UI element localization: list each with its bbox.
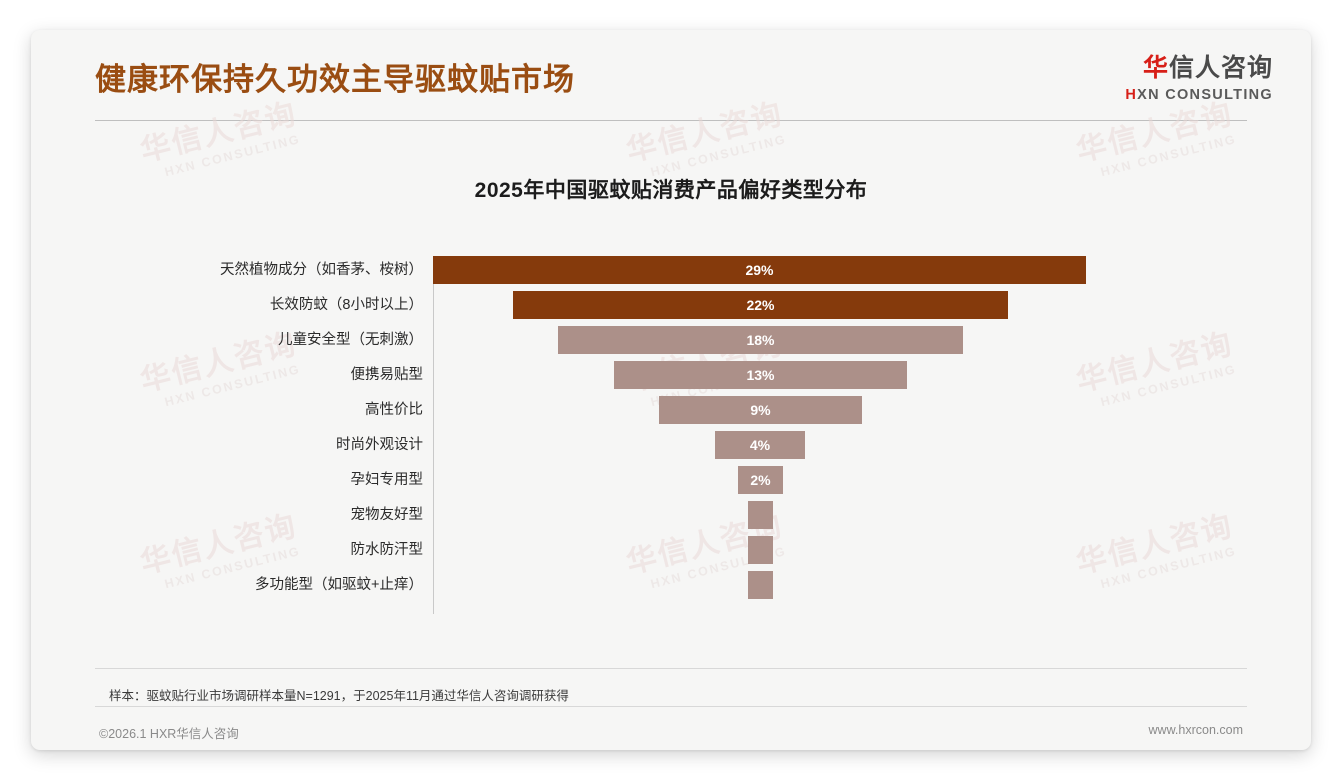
logo-hua-glyph: 华 [1143, 54, 1169, 82]
bar-value-label: 18% [558, 326, 963, 354]
chart-row: 儿童安全型（无刺激）18% [31, 326, 1311, 354]
chart-bar: 13% [614, 361, 907, 389]
category-label: 天然植物成分（如香茅、桉树） [220, 256, 423, 284]
category-label: 孕妇专用型 [351, 466, 424, 494]
category-label: 便携易贴型 [351, 361, 424, 389]
category-label: 高性价比 [365, 396, 423, 424]
chart-row: 孕妇专用型2% [31, 466, 1311, 494]
logo-english-text: HXN CONSULTING [1125, 88, 1273, 103]
chart-bar [748, 571, 773, 599]
company-logo: 华信人咨询 HXN CONSULTING [1125, 56, 1273, 103]
chart-bar: 2% [738, 466, 783, 494]
chart-row: 天然植物成分（如香茅、桉树）29% [31, 256, 1311, 284]
category-label: 多功能型（如驱蚊+止痒） [255, 571, 423, 599]
footnote-divider-top [95, 668, 1247, 669]
website-url: www.hxrcon.com [1149, 723, 1243, 737]
logo-cn-rest: 信人咨询 [1169, 54, 1273, 82]
logo-chinese-text: 华信人咨询 [1125, 56, 1273, 81]
category-label: 防水防汗型 [351, 536, 424, 564]
slide-header: 健康环保持久功效主导驱蚊贴市场 华信人咨询 HXN CONSULTING [31, 30, 1311, 122]
bar-value-label: 29% [433, 256, 1086, 284]
chart-container: 2025年中国驱蚊贴消费产品偏好类型分布 天然植物成分（如香茅、桉树）29%长效… [31, 122, 1311, 652]
chart-bar: 4% [715, 431, 805, 459]
category-label: 长效防蚊（8小时以上） [270, 291, 423, 319]
category-label: 时尚外观设计 [336, 431, 423, 459]
chart-row: 宠物友好型 [31, 501, 1311, 529]
slide-footer: ©2026.1 HXR华信人咨询 www.hxrcon.com [31, 714, 1311, 750]
chart-bar: 29% [433, 256, 1086, 284]
bar-value-label: 9% [659, 396, 862, 424]
chart-title: 2025年中国驱蚊贴消费产品偏好类型分布 [31, 174, 1311, 204]
footnote-divider-bottom [95, 706, 1247, 707]
chart-bar [748, 501, 773, 529]
logo-h-glyph: H [1125, 87, 1137, 103]
chart-row: 多功能型（如驱蚊+止痒） [31, 571, 1311, 599]
category-label: 宠物友好型 [351, 501, 424, 529]
bar-value-label: 2% [738, 466, 783, 494]
slide: 华信人咨询 HXN CONSULTING 华信人咨询 HXN CONSULTIN… [31, 30, 1311, 750]
bar-value-label: 22% [513, 291, 1008, 319]
chart-bar: 9% [659, 396, 862, 424]
chart-row: 长效防蚊（8小时以上）22% [31, 291, 1311, 319]
bar-value-label: 4% [715, 431, 805, 459]
chart-bar [748, 536, 773, 564]
header-divider [95, 120, 1247, 121]
category-label: 儿童安全型（无刺激） [278, 326, 423, 354]
chart-row: 时尚外观设计4% [31, 431, 1311, 459]
source-note: 样本：驱蚊贴行业市场调研样本量N=1291，于2025年11月通过华信人咨询调研… [109, 685, 569, 704]
chart-row: 高性价比9% [31, 396, 1311, 424]
chart-bar: 18% [558, 326, 963, 354]
bar-value-label: 13% [614, 361, 907, 389]
funnel-chart-plot: 天然植物成分（如香茅、桉树）29%长效防蚊（8小时以上）22%儿童安全型（无刺激… [31, 256, 1311, 618]
chart-row: 防水防汗型 [31, 536, 1311, 564]
logo-en-rest: XN CONSULTING [1137, 87, 1273, 103]
chart-bar: 22% [513, 291, 1008, 319]
copyright-text: ©2026.1 HXR华信人咨询 [99, 723, 239, 742]
page-title: 健康环保持久功效主导驱蚊贴市场 [95, 54, 575, 99]
chart-row: 便携易贴型13% [31, 361, 1311, 389]
